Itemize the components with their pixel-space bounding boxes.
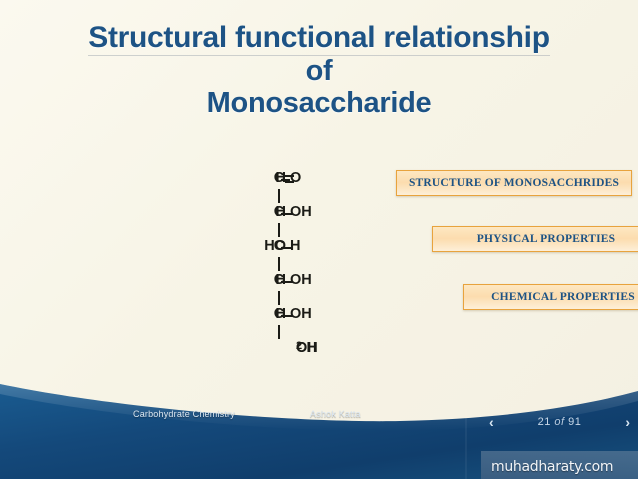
row-5-carbon: C — [272, 306, 286, 322]
vertical-bond-1 — [228, 188, 348, 204]
vertical-bond-5 — [228, 324, 348, 340]
terminal-oh: OH — [296, 340, 318, 356]
previous-page-arrow-icon[interactable]: ‹ — [487, 415, 496, 429]
title-line-1-text: Structural functional relationship — [88, 22, 550, 56]
row-2-carbon: C — [272, 204, 286, 220]
row-3-right-substituent: H — [290, 238, 300, 254]
page-title: Structural functional relationship of Mo… — [0, 22, 638, 119]
row-2-right-substituent: OH — [290, 204, 312, 220]
structure-row-4: H C OH — [228, 272, 348, 290]
vertical-bond-3 — [228, 256, 348, 272]
page-navigation: ‹ 21 of 91 › — [487, 415, 632, 429]
next-page-arrow-icon[interactable]: › — [623, 415, 632, 429]
vertical-bond-4 — [228, 290, 348, 306]
footer-author-label: Ashok Katta — [310, 409, 361, 419]
title-line-2: of — [0, 56, 638, 87]
structure-row-3: HO C H — [228, 238, 348, 256]
callout-structure-of-monosaccharides[interactable]: STRUCTURE OF MONOSACCHRIDES — [396, 170, 632, 196]
structure-terminal-group: CH2OH — [228, 340, 348, 360]
structure-row-2: H C OH — [228, 204, 348, 222]
current-page-number: 21 — [538, 416, 551, 428]
presentation-slide: Structural functional relationship of Mo… — [0, 0, 638, 479]
row-1-carbon: C — [272, 170, 286, 186]
callout-chemical-properties[interactable]: CHEMICAL PROPERTIES — [463, 284, 638, 310]
glucose-fischer-structure: H C O H C OH HO C H H C — [228, 170, 348, 360]
row-4-right-substituent: OH — [290, 272, 312, 288]
footer-course-label: Carbohydrate Chemistry — [133, 409, 235, 419]
row-5-right-substituent: OH — [290, 306, 312, 322]
row-3-carbon: C — [272, 238, 286, 254]
title-line-3: Monosaccharide — [0, 88, 638, 119]
page-indicator: 21 of 91 — [538, 416, 582, 428]
row-1-right-substituent: O — [290, 170, 301, 186]
callout-physical-properties[interactable]: PHYSICAL PROPERTIES — [432, 226, 638, 252]
watermark-text: muhadharaty.com — [491, 459, 613, 475]
row-4-carbon: C — [272, 272, 286, 288]
structure-row-1: H C O — [228, 170, 348, 188]
vertical-bond-2 — [228, 222, 348, 238]
page-of-label: of — [554, 416, 564, 428]
structure-row-5: H C OH — [228, 306, 348, 324]
slide-footer: Carbohydrate Chemistry Ashok Katta ‹ 21 … — [0, 379, 638, 479]
total-page-number: 91 — [568, 416, 581, 428]
title-line-1: Structural functional relationship — [0, 22, 638, 56]
